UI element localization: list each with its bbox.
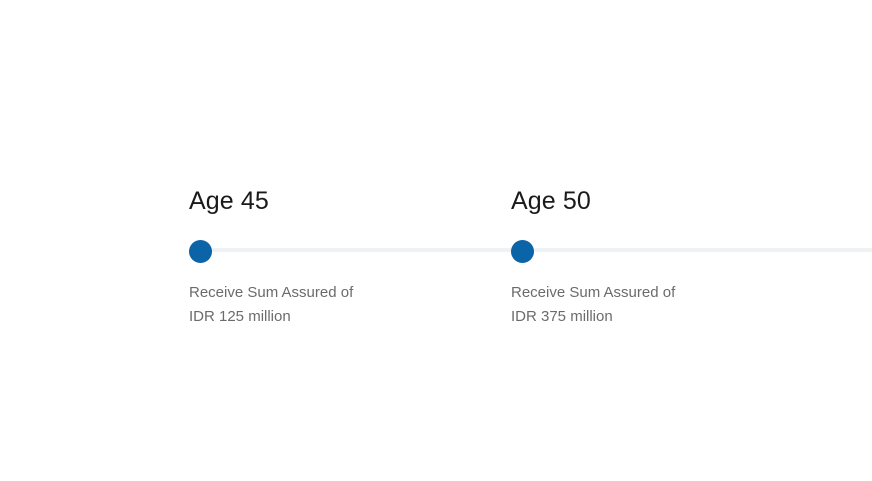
milestone-dot-age-50[interactable] — [511, 240, 534, 263]
milestone-description-line: IDR 375 million — [511, 305, 801, 329]
timeline-track — [201, 248, 872, 252]
benefit-timeline-screen: Age 45 Receive Sum Assured of IDR 125 mi… — [0, 0, 872, 481]
milestone-heading-age-50: Age 50 — [511, 186, 591, 216]
milestone-description-line: Receive Sum Assured of — [511, 281, 801, 305]
milestone-dot-age-45[interactable] — [189, 240, 212, 263]
milestone-description-line: Receive Sum Assured of — [189, 281, 479, 305]
milestone-description-line: IDR 125 million — [189, 305, 479, 329]
benefit-timeline — [0, 0, 872, 481]
milestone-description-age-50: Receive Sum Assured of IDR 375 million — [511, 281, 801, 329]
milestone-description-age-45: Receive Sum Assured of IDR 125 million — [189, 281, 479, 329]
milestone-heading-age-45: Age 45 — [189, 186, 269, 216]
